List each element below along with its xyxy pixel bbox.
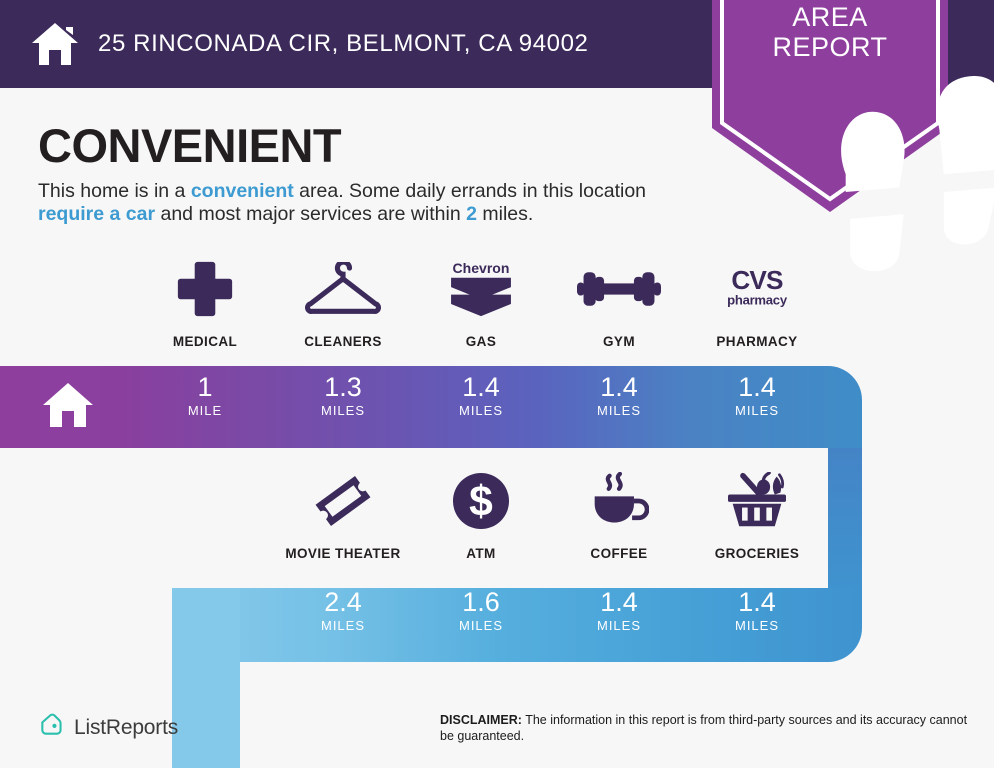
svg-text:Chevron: Chevron	[453, 260, 510, 276]
distance-value: 2.4	[274, 587, 412, 617]
distance-value: 1	[136, 372, 274, 402]
intro-text-2: area. Some daily errands in this locatio…	[294, 180, 646, 202]
amenity-label: MEDICAL	[173, 334, 237, 349]
distance-row-2: 2.4 MILES 1.6 MILES 1.4 MILES 1.4 MILES	[274, 587, 918, 633]
badge-title: AREA REPORT	[712, 2, 948, 62]
amenity-medical: MEDICAL	[136, 258, 274, 349]
page-title: CONVENIENT	[38, 118, 341, 173]
intro-highlight-2: require a car	[38, 203, 155, 225]
distance-row-1: 1 MILE 1.3 MILES 1.4 MILES 1.4 MILES 1.4…	[136, 372, 918, 418]
distance-value: 1.4	[550, 372, 688, 402]
distance-unit: MILES	[274, 403, 412, 418]
amenity-label: GAS	[466, 334, 496, 349]
amenity-label: PHARMACY	[716, 334, 797, 349]
distance-value: 1.3	[274, 372, 412, 402]
distance-unit: MILES	[274, 618, 412, 633]
amenity-label: CLEANERS	[304, 334, 381, 349]
amenity-gym: GYM	[550, 258, 688, 349]
badge-line-2: REPORT	[712, 32, 948, 62]
listreports-logo-text: ListReports	[74, 716, 178, 740]
distance-unit: MILES	[412, 618, 550, 633]
distance-cell: 2.4 MILES	[274, 587, 412, 633]
svg-text:pharmacy: pharmacy	[727, 293, 788, 308]
distance-unit: MILES	[550, 618, 688, 633]
cvs-pharmacy-icon: CVS pharmacy	[709, 258, 805, 320]
distance-cell: 1.4 MILES	[550, 587, 688, 633]
distance-cell: 1.4 MILES	[688, 587, 826, 633]
distance-home-cell	[0, 372, 136, 442]
intro-text-1: This home is in a	[38, 180, 191, 202]
listreports-logo: ListReports	[38, 712, 178, 743]
area-report-badge: AREA REPORT	[712, 0, 948, 212]
distance-unit: MILES	[550, 403, 688, 418]
svg-text:CVS: CVS	[731, 265, 783, 295]
home-icon	[41, 381, 95, 434]
distance-value: 1.4	[688, 372, 826, 402]
distance-cell: 1.6 MILES	[412, 587, 550, 633]
listreports-house-icon	[38, 712, 64, 743]
amenity-label: GYM	[603, 334, 635, 349]
dumbbell-icon	[577, 258, 661, 320]
medical-cross-icon	[176, 258, 234, 320]
amenity-icon-row-1: MEDICAL CLEANERS Chevron GAS	[136, 258, 918, 349]
disclaimer: DISCLAIMER: The information in this repo…	[440, 712, 980, 744]
footprints-icon	[808, 76, 854, 128]
hanger-icon	[303, 258, 383, 320]
intro-highlight-1: convenient	[191, 180, 294, 202]
distance-cell: 1.4 MILES	[412, 372, 550, 418]
distance-cell: 1 MILE	[136, 372, 274, 418]
distance-cell: 1.4 MILES	[550, 372, 688, 418]
distance-unit: MILES	[688, 618, 826, 633]
distance-unit: MILES	[688, 403, 826, 418]
distance-cell: 1.3 MILES	[274, 372, 412, 418]
intro-description: This home is in a convenient area. Some …	[38, 180, 698, 226]
distance-unit: MILES	[412, 403, 550, 418]
distance-value: 1.4	[688, 587, 826, 617]
badge-line-1: AREA	[712, 2, 948, 32]
distance-unit: MILE	[136, 403, 274, 418]
home-icon	[30, 21, 80, 67]
property-address: 25 RINCONADA CIR, BELMONT, CA 94002	[98, 30, 589, 58]
area-report-page: 25 RINCONADA CIR, BELMONT, CA 94002 AREA…	[0, 0, 994, 768]
intro-text-3: and most major services are within	[155, 203, 466, 225]
chevron-gas-icon: Chevron	[445, 258, 517, 320]
distance-value: 1.4	[550, 587, 688, 617]
intro-text-4: miles.	[477, 203, 533, 225]
disclaimer-label: DISCLAIMER:	[440, 713, 522, 727]
amenity-cleaners: CLEANERS	[274, 258, 412, 349]
amenity-gas: Chevron GAS	[412, 258, 550, 349]
intro-highlight-3: 2	[466, 203, 477, 225]
amenity-pharmacy: CVS pharmacy PHARMACY	[688, 258, 826, 349]
distance-value: 1.4	[412, 372, 550, 402]
distance-cell: 1.4 MILES	[688, 372, 826, 418]
distance-value: 1.6	[412, 587, 550, 617]
